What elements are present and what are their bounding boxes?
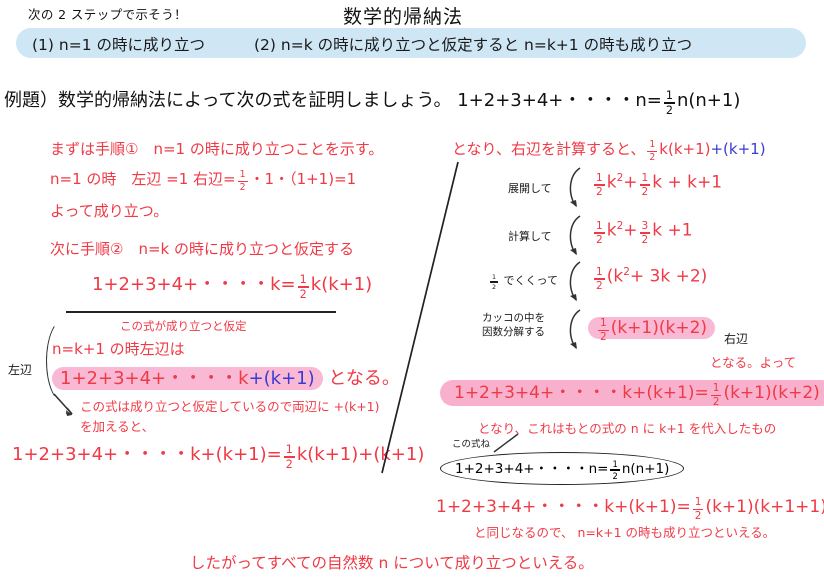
fraction-one-half: 12 (664, 90, 675, 116)
fraction-one-half: 12 (647, 140, 657, 162)
right-expanded-equation: 12k2+12k + k+1 (592, 172, 722, 197)
left-assumed-equation: 1+2+3+4+・・・・k=12k(k+1) (92, 270, 372, 300)
lhs-label: 左辺 (8, 361, 32, 378)
right-line1: となり、右辺を計算すると、12k(k+1)+(k+1) (452, 138, 766, 163)
label-factorize-line2: 因数分解する (482, 324, 545, 339)
curved-arrow-icon (562, 260, 588, 306)
label-factor-out: 12 でくくって (488, 272, 558, 290)
left-nk1-text: n=k+1 の時左辺は (52, 338, 185, 359)
assumption-note: この式が成り立つと仮定 (120, 318, 247, 334)
fraction-three-halves: 32 (640, 221, 651, 246)
becomes-text: となる。よって (710, 352, 796, 371)
diagonal-separator-line (380, 160, 460, 475)
fraction-one-half: 12 (594, 173, 605, 198)
curved-arrow-icon (562, 308, 588, 354)
left-highlighted-equation: 1+2+3+4+・・・・k+(k+1) となる。 (52, 364, 400, 390)
left-note-a: この式は成り立つと仮定しているので両辺に +(k+1) (80, 396, 380, 415)
same-as-note: と同じなるので、 n=k+1 の時も成り立つといえる。 (474, 522, 775, 541)
intro-note: 次の 2 ステップで示そう！ (28, 4, 187, 23)
pink-highlight: 1+2+3+4+・・・・k+(k+1)=12(k+1)(k+2) (440, 380, 824, 406)
step-2-text: (2) n=k の時に成り立つと仮定すると n=k+1 の時も成り立つ (254, 33, 692, 55)
problem-prefix: 例題）数学的帰納法によって次の式を証明しましょう。 (4, 90, 451, 111)
fraction-one-half: 12 (693, 497, 704, 522)
step-1-text: (1) n=1 の時に成り立つ (32, 33, 205, 55)
pink-highlight: 12(k+1)(k+2) (588, 317, 715, 339)
problem-statement: 例題）数学的帰納法によって次の式を証明しましょう。 1+2+3+4+・・・・n=… (4, 86, 740, 116)
fraction-one-half: 12 (490, 274, 498, 290)
substitution-note: となり、これはもとの式の n に k+1 を代入したもの (478, 418, 776, 437)
fraction-one-half: 12 (711, 383, 722, 408)
left-step2-text: 次に手順② n=k の時に成り立つと仮定する (50, 238, 354, 259)
rhs-label: 右辺 (724, 330, 748, 347)
pointer-line-icon (490, 432, 522, 454)
right-result-equation: 1+2+3+4+・・・・k+(k+1)=12(k+1)(k+2) (440, 378, 824, 408)
right-final-equation: 1+2+3+4+・・・・k+(k+1)=12(k+1)(k+1+1) (436, 492, 824, 522)
left-summed-equation: 1+2+3+4+・・・・k+(k+1)=12k(k+1)+(k+1) (12, 440, 424, 470)
pink-highlight: 1+2+3+4+・・・・k+(k+1) (52, 367, 323, 390)
label-factorize-line1: カッコの中を (482, 310, 545, 325)
right-factorized-equation: 12(k+1)(k+2) (588, 318, 715, 343)
fraction-one-half: 12 (284, 444, 295, 470)
fraction-one-half: 12 (594, 221, 605, 246)
final-conclusion: したがってすべての自然数 n について成り立つといえる。 (190, 551, 594, 573)
label-compute: 計算して (508, 228, 552, 244)
page-title: 数学的帰納法 (343, 2, 463, 29)
label-expand: 展開して (508, 180, 552, 196)
original-equation-oval: 1+2+3+4+・・・・n=12n(n+1) (440, 452, 684, 485)
fraction-one-half: 12 (594, 267, 605, 292)
fraction-one-half: 12 (298, 274, 309, 300)
left-step1-text: まずは手順① n=1 の時に成り立つことを示す。 (50, 138, 383, 159)
fraction-one-half-b: 12 (640, 173, 651, 198)
underline-divider (66, 311, 336, 313)
fraction-one-half: 12 (610, 460, 619, 480)
right-computed-equation: 12k2+32k +1 (592, 220, 693, 245)
curved-arrow-icon (562, 166, 588, 212)
left-n1-evaluation: n=1 の時 左辺 =1 右辺=12・1・（1+1)=1 (50, 168, 356, 193)
this-equation-label: この式ね (452, 436, 490, 450)
left-note-b: を加えると、 (80, 416, 154, 435)
fraction-one-half: 12 (238, 170, 248, 192)
fraction-one-half: 12 (598, 318, 609, 343)
left-conclusion-step1: よって成り立つ。 (50, 200, 168, 221)
curved-arrow-icon (562, 214, 588, 260)
problem-formula: 1+2+3+4+・・・・n=12n(n+1) (457, 90, 740, 111)
slide-canvas: 次の 2 ステップで示そう！ 数学的帰納法 (1) n=1 の時に成り立つ (2… (0, 0, 824, 585)
right-factored-out-equation: 12(k2+ 3k +2) (592, 266, 707, 291)
